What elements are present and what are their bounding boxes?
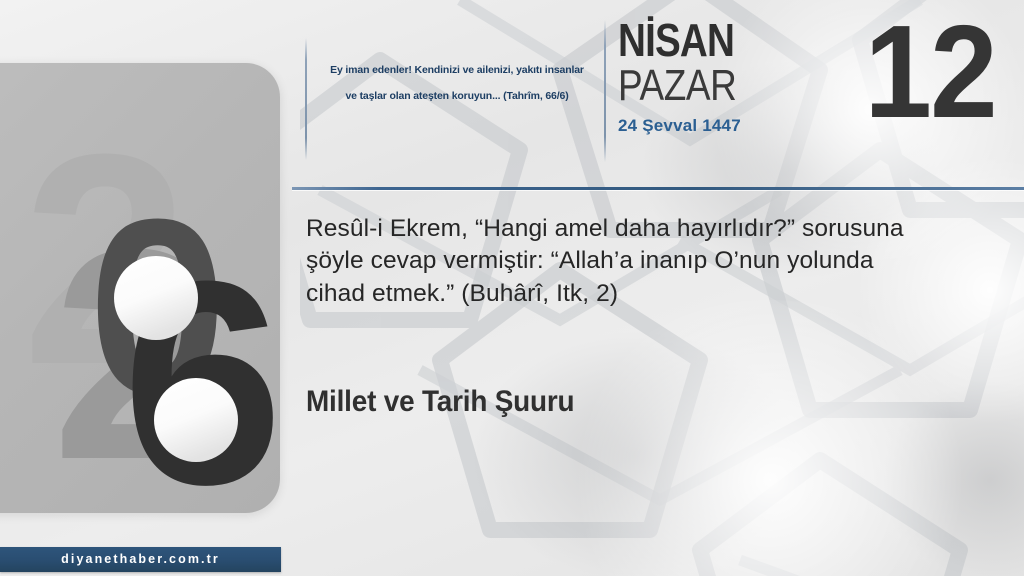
hadith-quote: Resûl-i Ekrem, “Hangi amel daha hayırlıd… — [306, 213, 946, 310]
vertical-divider-right — [604, 20, 606, 162]
day-number: 12 — [865, 6, 996, 138]
verse-line-2: ve taşlar olan ateşten koruyun... (Tahrî… — [318, 84, 596, 110]
calendar-page: 2 2 0 6 Ey iman edenler! Kendinizi ve ai… — [0, 0, 1024, 576]
quote-line-2: şöyle cevap vermiştir: “Allah’a inanıp O… — [306, 245, 946, 277]
date-block: NİSAN PAZAR 24 Şevval 1447 — [618, 18, 828, 136]
quote-line-3: cihad etmek.” (Buhârî, Itk, 2) — [306, 278, 946, 310]
month-label: NİSAN — [618, 18, 794, 62]
verse-line-1: Ey iman edenler! Kendinizi ve ailenizi, … — [318, 58, 596, 84]
background-shadow — [880, 380, 1024, 576]
background-highlight — [560, 300, 980, 576]
topic-heading: Millet ve Tarih Şuuru — [306, 385, 574, 419]
site-footer-bar: diyanethaber.com.tr — [0, 547, 281, 572]
year-logo: 2 2 0 6 — [0, 63, 290, 513]
hijri-date-label: 24 Şevval 1447 — [618, 116, 828, 136]
quran-verse: Ey iman edenler! Kendinizi ve ailenizi, … — [318, 58, 596, 109]
weekday-label: PAZAR — [618, 64, 794, 109]
vertical-divider-left — [305, 38, 307, 160]
quote-line-1: Resûl-i Ekrem, “Hangi amel daha hayırlıd… — [306, 213, 946, 245]
site-url: diyanethaber.com.tr — [0, 547, 281, 572]
background-shadow — [470, 330, 800, 576]
horizontal-divider — [292, 187, 1024, 190]
